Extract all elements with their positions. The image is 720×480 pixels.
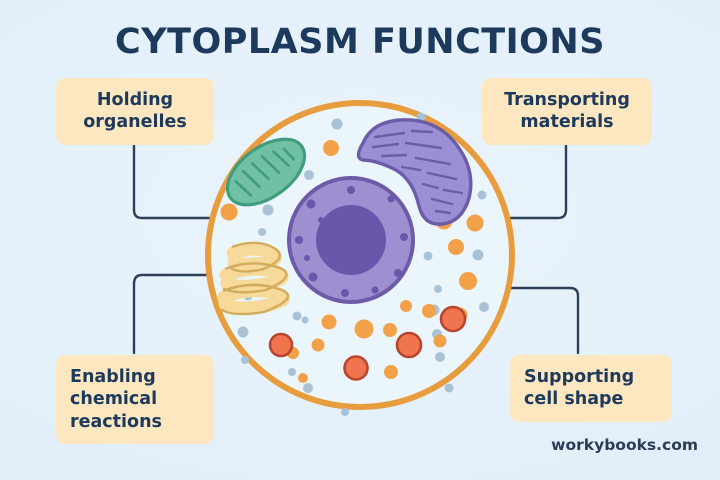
connector-supporting-cell-shape: [500, 288, 578, 353]
callout-enabling-chemical-reactions[interactable]: Enabling chemical reactions: [56, 355, 214, 444]
nucleolus: [316, 205, 386, 275]
watermark: workybooks.com: [551, 436, 698, 454]
callout-transporting-materials[interactable]: Transporting materials: [482, 78, 652, 145]
nucleus-organelle: [289, 178, 413, 302]
diagram-canvas: CYTOPLASM FUNCTIONS: [0, 0, 720, 480]
callout-holding-organelles[interactable]: Holding organelles: [56, 78, 214, 145]
connector-holding-organelles: [134, 143, 222, 218]
callout-supporting-cell-shape[interactable]: Supporting cell shape: [510, 355, 672, 422]
connector-transporting-materials: [500, 143, 566, 218]
